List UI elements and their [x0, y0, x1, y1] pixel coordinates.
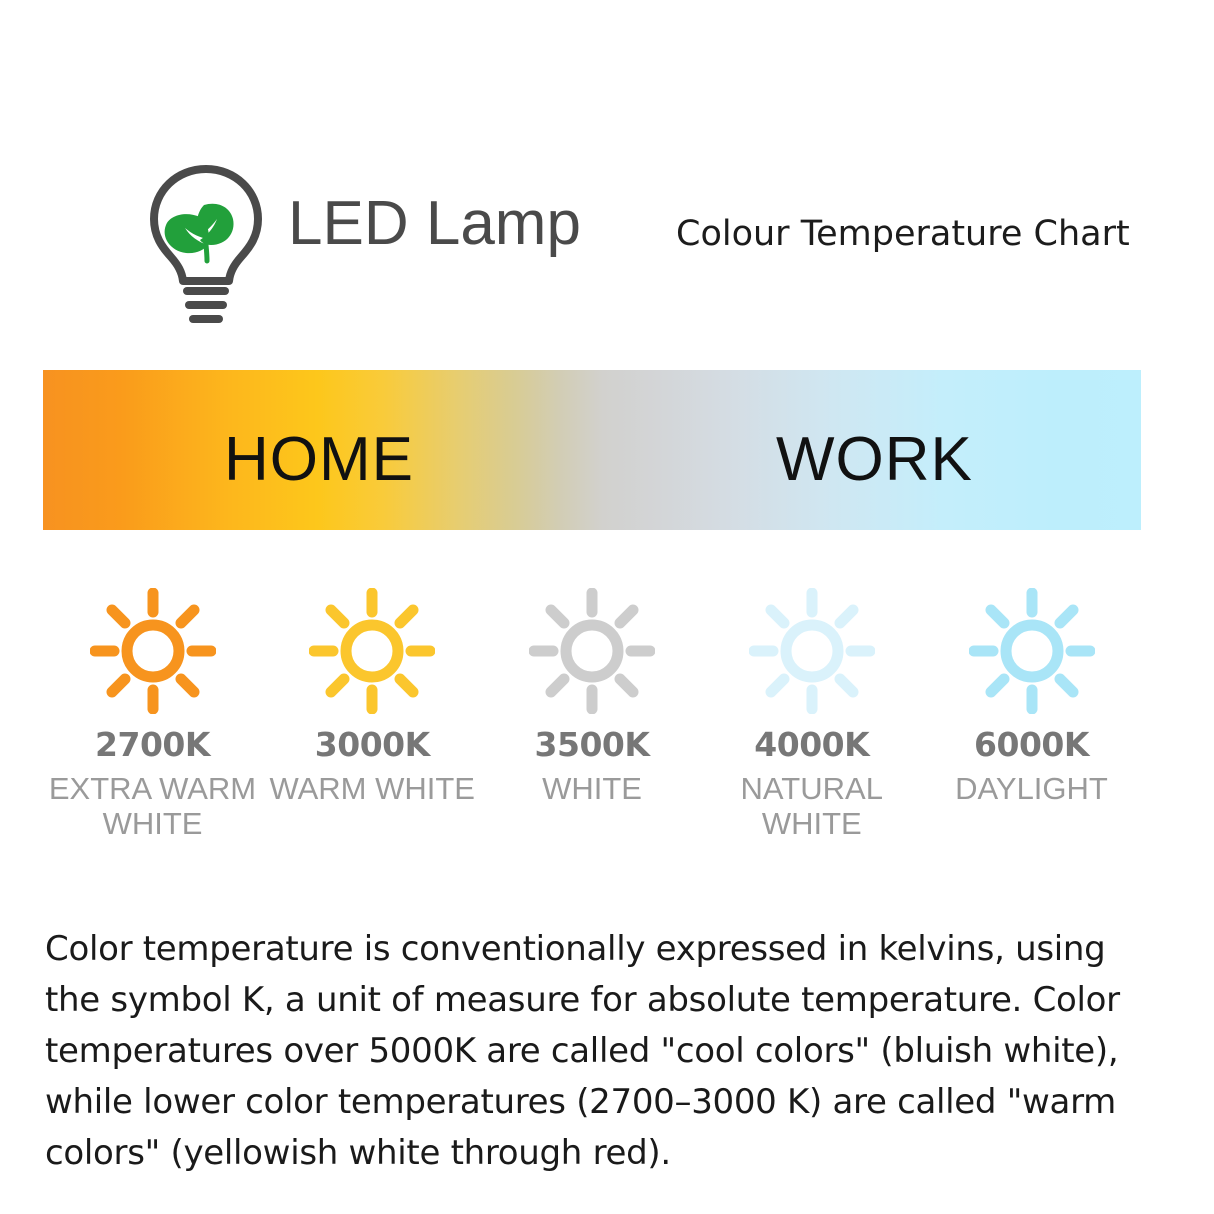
colour-temperature-gradient-bar [43, 370, 1141, 530]
temperature-name: NATURAL WHITE [707, 772, 917, 841]
gradient-label-home: HOME [224, 424, 414, 495]
temperature-item-4000k: 4000K NATURAL WHITE [702, 588, 921, 841]
header: LED Lamp Colour Temperature Chart [0, 160, 1214, 340]
temperature-name: DAYLIGHT [955, 772, 1108, 807]
temperature-kelvin: 6000K [974, 728, 1089, 761]
temperature-list: 2700K EXTRA WARM WHITE 3000K WARM WHITE [43, 588, 1141, 841]
sun-icon [529, 588, 655, 714]
temperature-kelvin: 2700K [95, 728, 210, 761]
page-title: Colour Temperature Chart [676, 214, 1130, 254]
temperature-item-3500k: 3500K WHITE [483, 588, 702, 841]
description-paragraph: Color temperature is conventionally expr… [45, 924, 1145, 1179]
temperature-kelvin: 3500K [535, 728, 650, 761]
sun-icon [90, 588, 216, 714]
sun-icon [749, 588, 875, 714]
temperature-name: EXTRA WARM WHITE [48, 772, 258, 841]
temperature-name: WHITE [542, 772, 642, 807]
gradient-label-work: WORK [776, 424, 973, 495]
temperature-name: WARM WHITE [270, 772, 475, 807]
temperature-item-2700k: 2700K EXTRA WARM WHITE [43, 588, 262, 841]
temperature-kelvin: 4000K [754, 728, 869, 761]
temperature-kelvin: 3000K [315, 728, 430, 761]
sun-icon [969, 588, 1095, 714]
lightbulb-leaf-icon [140, 165, 272, 323]
sun-icon [309, 588, 435, 714]
brand-title: LED Lamp [288, 188, 581, 259]
temperature-item-3000k: 3000K WARM WHITE [263, 588, 482, 841]
temperature-item-6000k: 6000K DAYLIGHT [922, 588, 1141, 841]
